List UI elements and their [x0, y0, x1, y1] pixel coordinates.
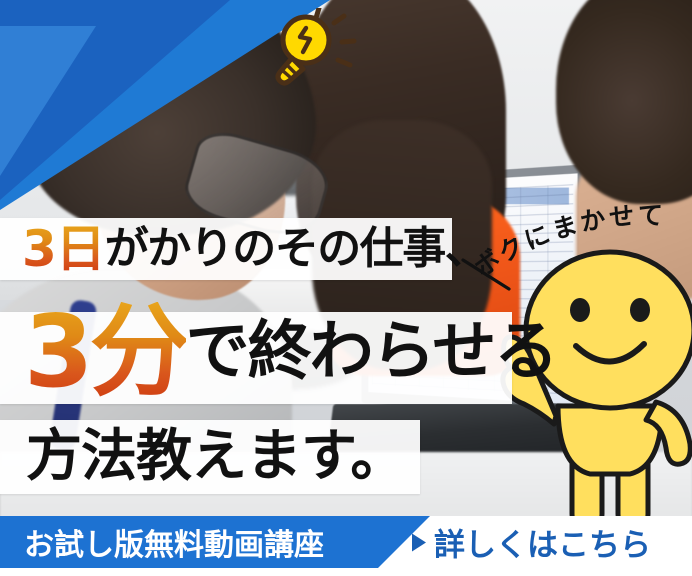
- lightbulb-icon: [262, 8, 358, 90]
- headline-line-1-text: がかりのその仕事、: [105, 227, 488, 271]
- details-link[interactable]: 詳しくはこちら: [412, 520, 651, 565]
- speech-char-6: せ: [608, 196, 635, 234]
- bottom-white-strip: [0, 568, 692, 576]
- headline-line-2: 3分 で終わらせる: [24, 300, 556, 404]
- headline-line-1: 3日 がかりのその仕事、: [22, 218, 487, 280]
- headline-line-2-number: 3分: [24, 302, 186, 402]
- play-triangle-icon: [412, 533, 426, 551]
- headline-line-2-text: で終わらせる: [186, 320, 557, 384]
- headline-line-1-number: 3日: [22, 224, 105, 274]
- ad-banner[interactable]: ボ ク に ま か せ て: [0, 0, 692, 576]
- details-link-label: 詳しくはこちら: [434, 520, 651, 565]
- free-trial-badge[interactable]: お試し版無料動画講座: [0, 516, 430, 568]
- headline-line-3-text: 方法教えます。: [26, 429, 405, 485]
- speech-char-5: か: [577, 199, 607, 238]
- bottom-cta-bar[interactable]: お試し版無料動画講座 詳しくはこちら: [0, 516, 692, 568]
- speech-char-7: て: [638, 196, 663, 232]
- free-trial-badge-label: お試し版無料動画講座: [24, 520, 324, 564]
- headline-line-3: 方法教えます。: [26, 420, 405, 494]
